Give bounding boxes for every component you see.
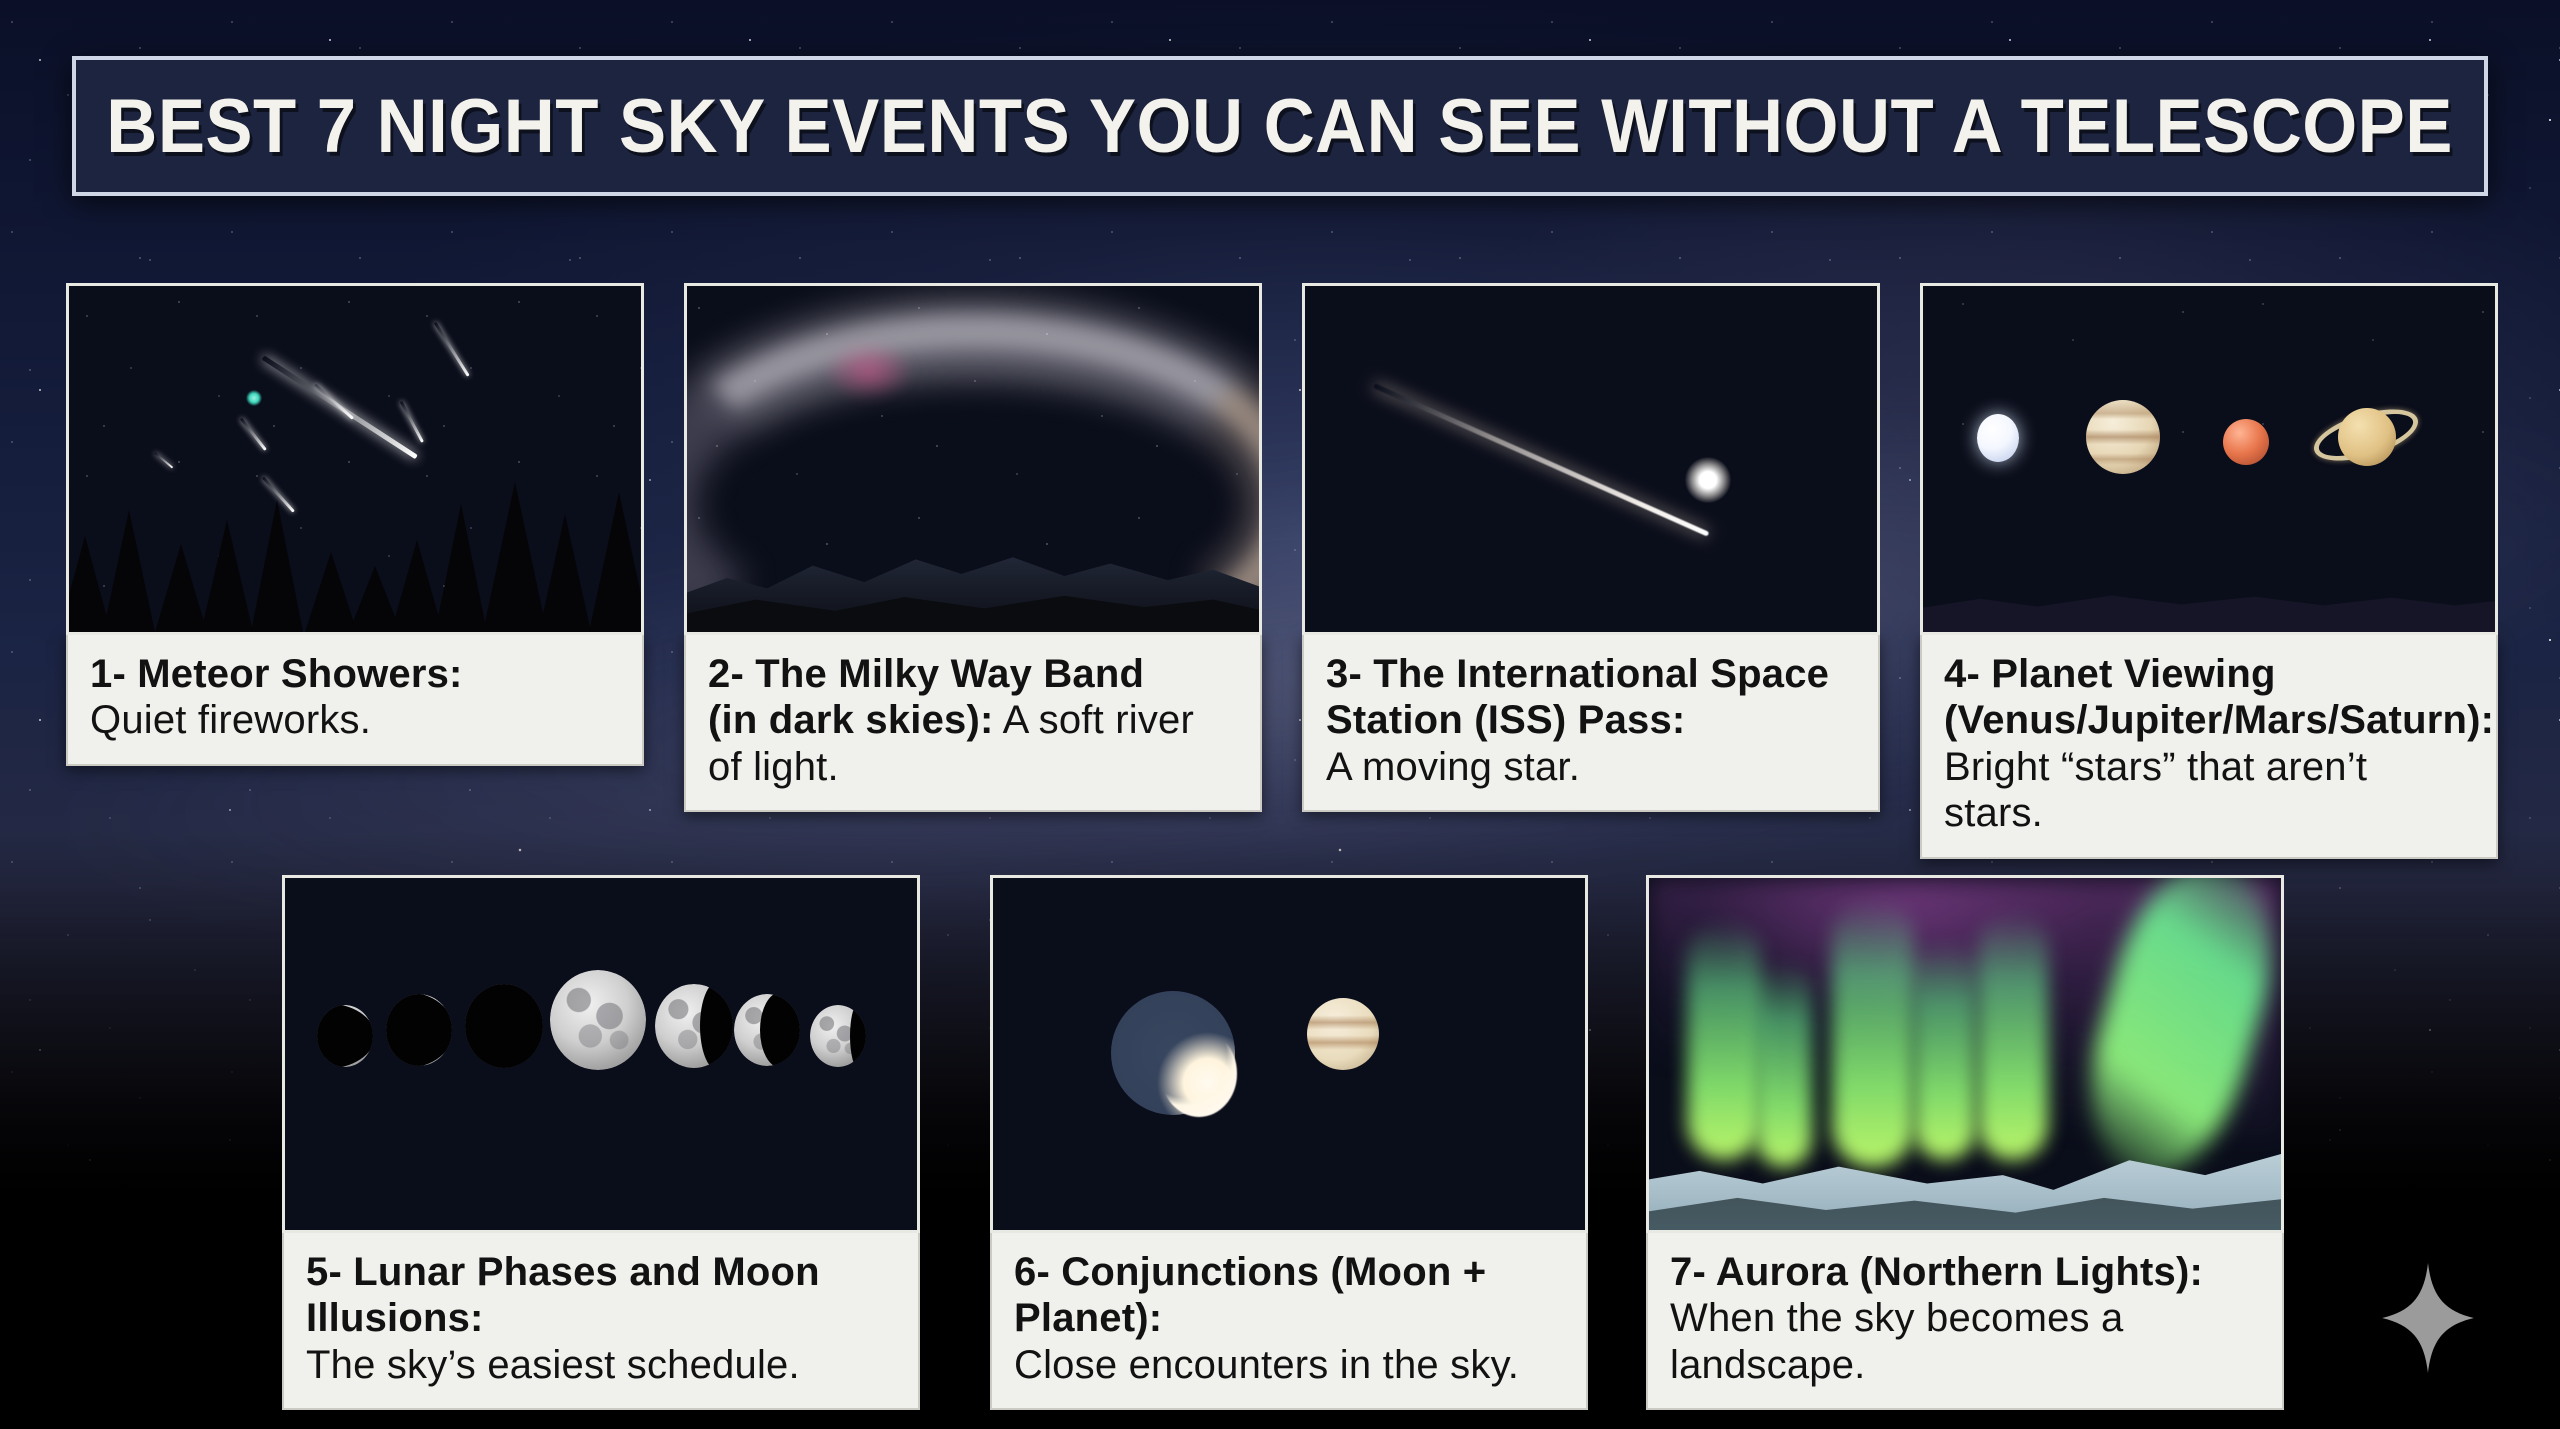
moon-phase-1-waxing-crescent [317, 1005, 373, 1067]
card-body: When the sky becomes a landscape. [1670, 1296, 2124, 1386]
card-heading-line2: (Venus/Jupiter/Mars/Saturn): [1944, 698, 2494, 742]
iss-bright-point [1685, 457, 1731, 503]
card-conjunctions[interactable]: 6- Conjunctions (Moon + Planet): Close e… [990, 875, 1588, 1410]
title-banner: BEST 7 NIGHT SKY EVENTS YOU CAN SEE WITH… [72, 56, 2488, 196]
meteor-head-glow [246, 390, 262, 406]
card-body: Bright “stars” that aren’t stars. [1944, 745, 2367, 835]
meteor-shower-image [66, 283, 644, 635]
card-heading: 5- Lunar Phases and Moon Illusions: [306, 1250, 820, 1340]
card-iss-pass[interactable]: 3- The International Space Station (ISS)… [1302, 283, 1880, 812]
moon-phases-image [282, 875, 920, 1233]
aurora-curtain-4 [1914, 941, 1976, 1159]
aurora-curtain-3 [1832, 899, 1914, 1167]
planet-saturn [2312, 400, 2422, 472]
card-body: Close encounters in the sky. [1014, 1343, 1519, 1387]
planet-mars [2223, 419, 2269, 465]
moon-phase-4-full [550, 970, 646, 1070]
aurora-image [1646, 875, 2284, 1233]
card-lunar-phases[interactable]: 5- Lunar Phases and Moon Illusions: The … [282, 875, 920, 1410]
planet-jupiter [2086, 400, 2160, 474]
card-caption: 7- Aurora (Northern Lights): When the sk… [1646, 1233, 2284, 1410]
card-heading-line1: 3- The International Space [1326, 652, 1829, 696]
moon-phase-3-first-quarter [465, 984, 543, 1068]
moon-phase-6-waning-crescent [734, 994, 800, 1066]
distant-ridge [1923, 577, 2495, 632]
moon-phase-2-crescent [386, 994, 452, 1066]
iss-pass-image [1302, 283, 1880, 635]
card-body: Quiet fireworks. [90, 698, 371, 742]
card-heading: 1- Meteor Showers: [90, 652, 463, 696]
moon-phase-7-thin-crescent [810, 1005, 866, 1067]
card-heading-line2: Station (ISS) Pass: [1326, 698, 1685, 742]
planet-venus [1977, 414, 2019, 462]
card-caption: 6- Conjunctions (Moon + Planet): Close e… [990, 1233, 1588, 1410]
card-heading-line2: (in dark skies): [708, 698, 994, 742]
aurora-curtain-2 [1756, 962, 1812, 1166]
card-aurora[interactable]: 7- Aurora (Northern Lights): When the sk… [1646, 875, 2284, 1410]
card-heading-line1: 2- The Milky Way Band [708, 652, 1144, 696]
card-body-inline: A soft river [994, 698, 1194, 742]
card-planet-viewing[interactable]: 4- Planet Viewing (Venus/Jupiter/Mars/Sa… [1920, 283, 2498, 859]
card-caption: 4- Planet Viewing (Venus/Jupiter/Mars/Sa… [1920, 635, 2498, 859]
card-meteor-showers[interactable]: 1- Meteor Showers: Quiet fireworks. [66, 283, 644, 766]
conjunction-image [990, 875, 1588, 1233]
card-caption: 3- The International Space Station (ISS)… [1302, 635, 1880, 812]
jupiter-disc [1307, 998, 1379, 1070]
aurora-curtain-5 [1978, 913, 2048, 1159]
aurora-curtain-1 [1687, 920, 1761, 1159]
card-body: A moving star. [1326, 745, 1580, 789]
crescent-moon [1111, 991, 1235, 1115]
planet-lineup-image [1920, 283, 2498, 635]
card-caption: 5- Lunar Phases and Moon Illusions: The … [282, 1233, 920, 1410]
card-caption: 2- The Milky Way Band (in dark skies): A… [684, 635, 1262, 812]
saturn-body [2338, 408, 2396, 466]
four-pointed-star-icon [2382, 1263, 2474, 1373]
card-body: The sky’s easiest schedule. [306, 1343, 800, 1387]
milky-way-image [684, 283, 1262, 635]
card-milky-way-band[interactable]: 2- The Milky Way Band (in dark skies): A… [684, 283, 1262, 812]
card-heading: 6- Conjunctions (Moon + Planet): [1014, 1250, 1486, 1340]
pine-tree-silhouettes [69, 473, 641, 632]
card-heading: 7- Aurora (Northern Lights): [1670, 1250, 2203, 1294]
card-heading-line1: 4- Planet Viewing [1944, 652, 2276, 696]
card-caption: 1- Meteor Showers: Quiet fireworks. [66, 635, 644, 766]
page-title: BEST 7 NIGHT SKY EVENTS YOU CAN SEE WITH… [107, 83, 2454, 170]
moon-phase-5-last-quarter [655, 984, 733, 1068]
card-body-line2: of light. [708, 745, 839, 789]
iss-light-streak [1373, 383, 1709, 536]
